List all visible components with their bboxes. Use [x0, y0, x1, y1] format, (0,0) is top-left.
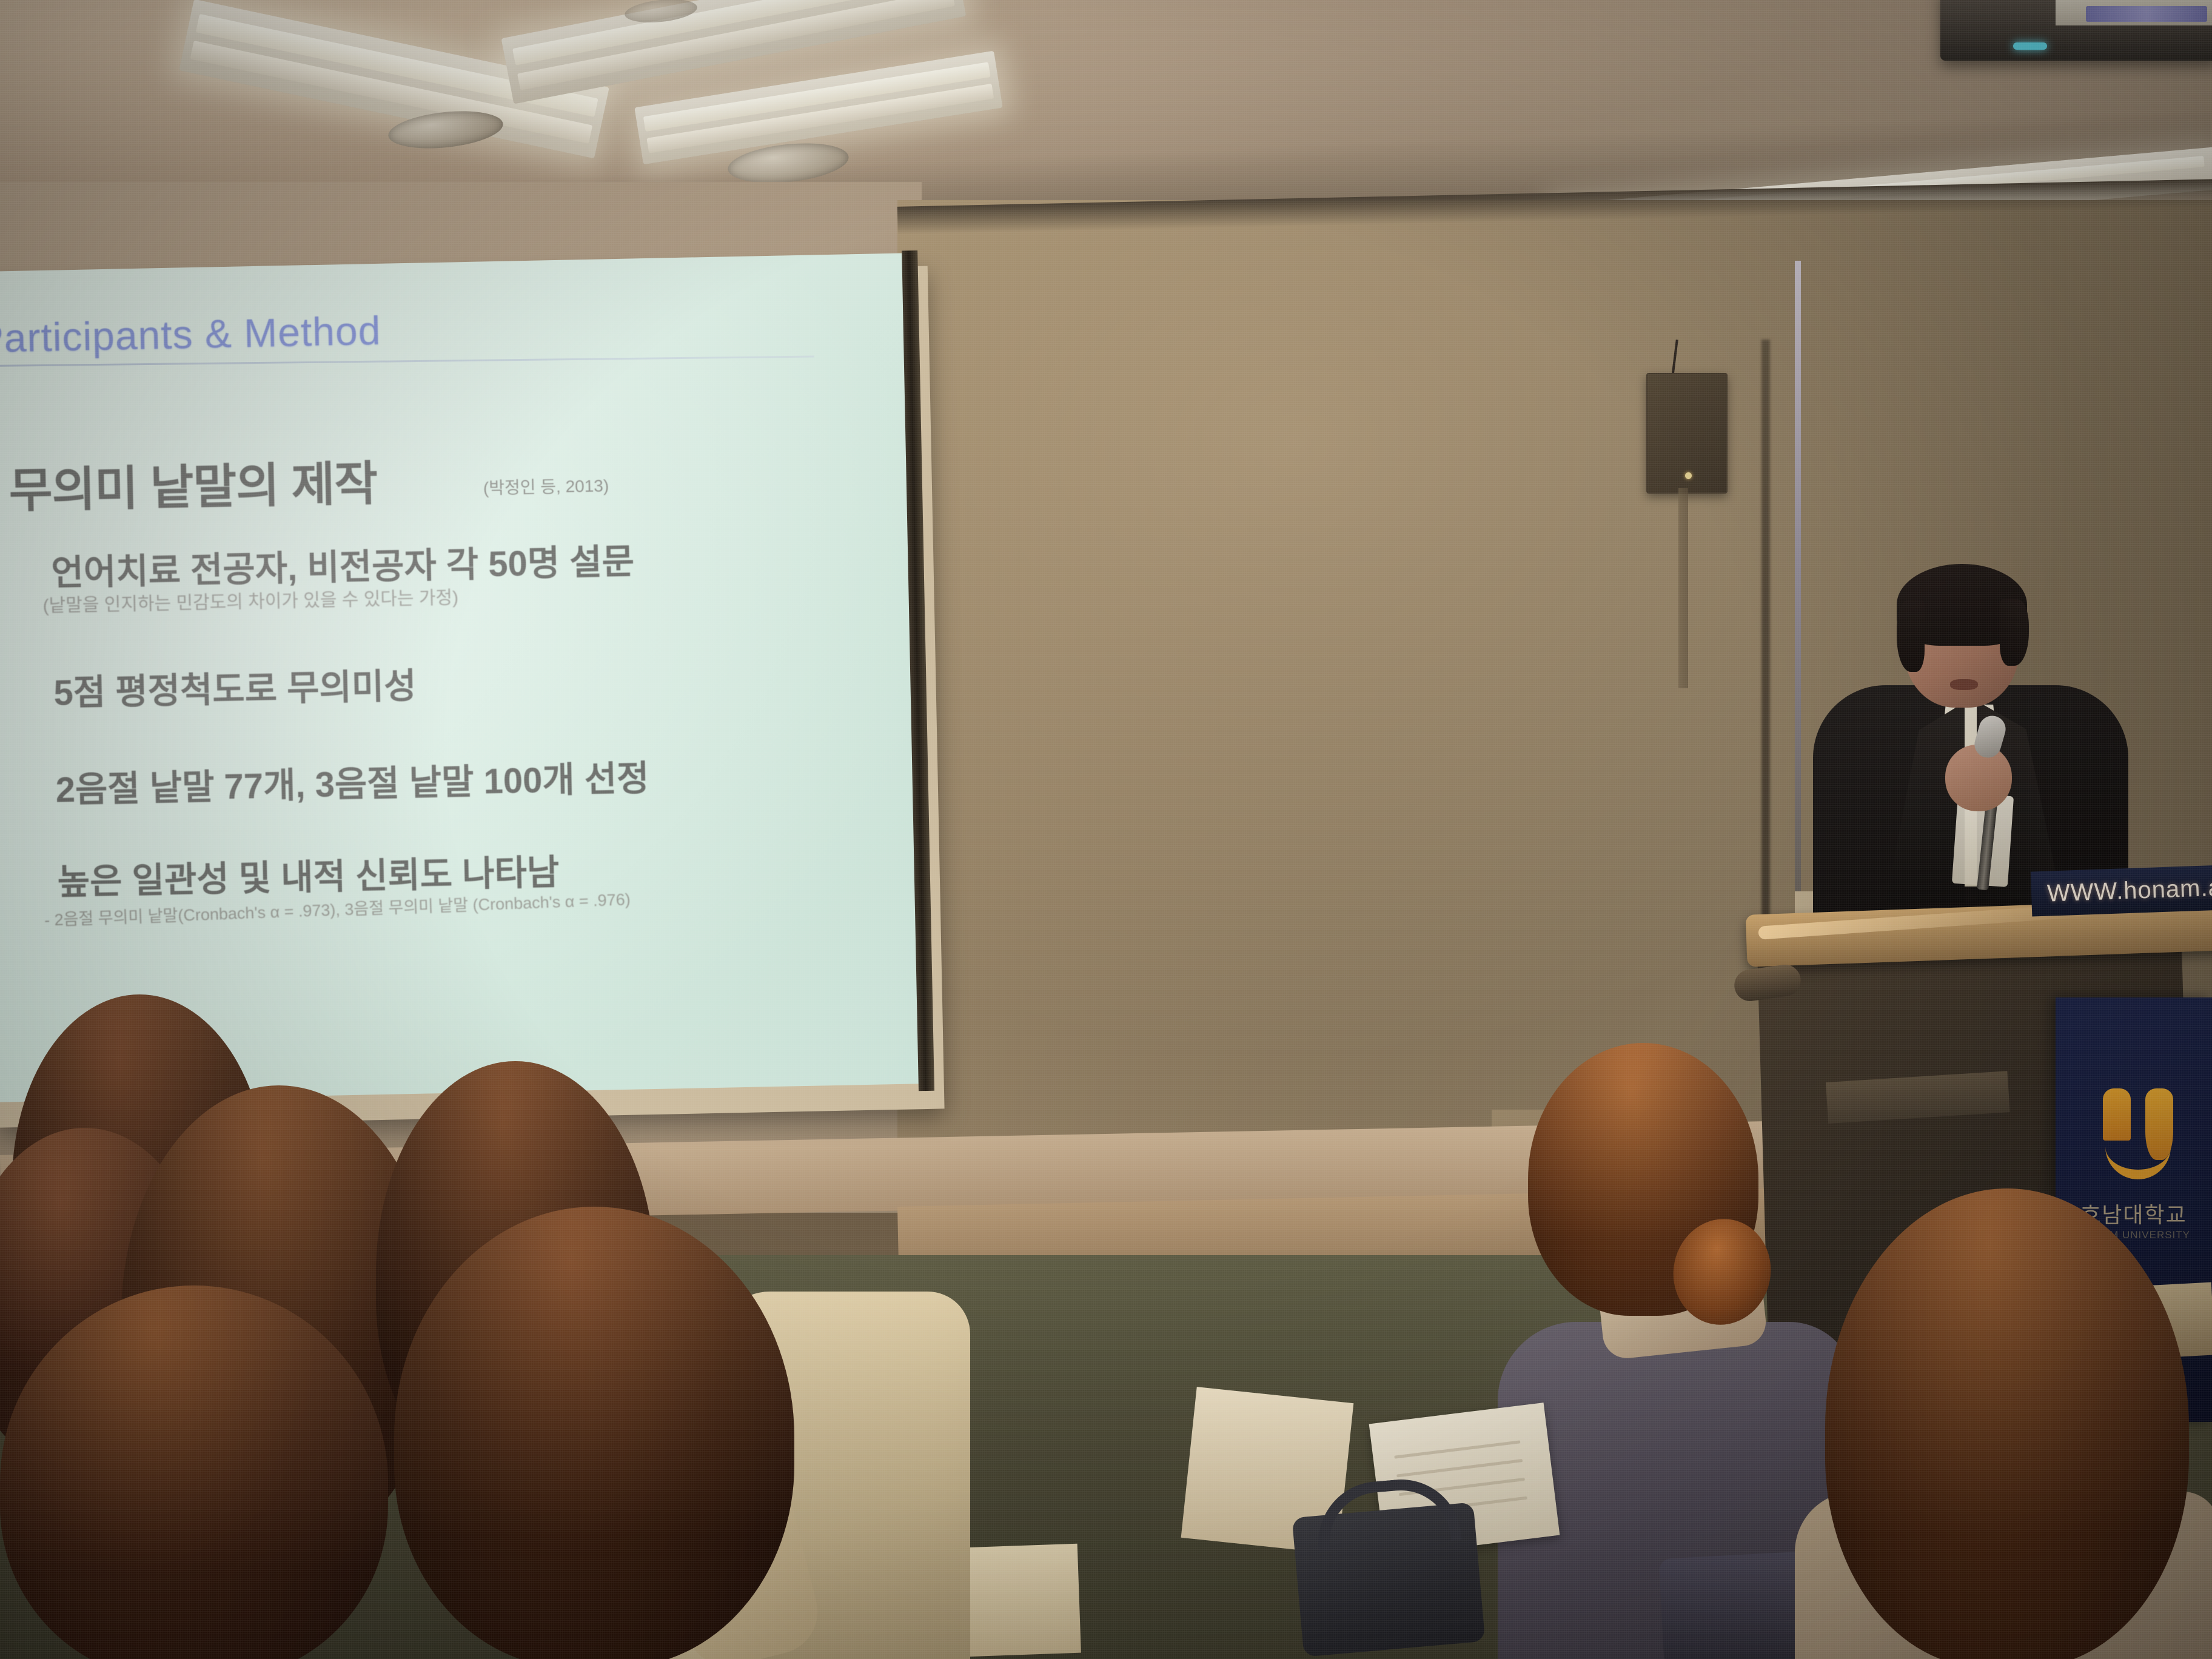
presentation-room-photo: Participants & Method 무의미 낱말의 제작 (박정인 등,… [0, 0, 2212, 1659]
ceiling-projector [1940, 0, 2212, 61]
wall-speaker-box [1646, 373, 1728, 494]
podium-url-text: WWW.honam.a [2031, 874, 2212, 908]
audience-head [0, 1285, 388, 1659]
slide-heading: 무의미 낱말의 제작 [8, 446, 378, 521]
speaker-mount-post [1678, 488, 1688, 688]
slide-citation: (박정인 등, 2013) [483, 472, 609, 499]
podium-front-panel [1826, 1071, 2010, 1124]
slide-bullet-3: 2음절 낱말 77개, 3음절 낱말 100개 선정 [55, 749, 649, 813]
audience-head [394, 1207, 794, 1659]
wall-corner-shadow [1761, 340, 1770, 994]
presenter-hand [1945, 745, 2012, 811]
university-logo-icon [2103, 1088, 2173, 1167]
projection-screen: Participants & Method 무의미 낱말의 제작 (박정인 등,… [0, 253, 920, 1102]
slide-bullet-2: 5점 평정척도로 무의미성 [53, 657, 417, 716]
presenter-hair-side [1897, 600, 1925, 672]
slide-section-title: Participants & Method [0, 307, 381, 361]
presenter-mouth [1950, 679, 1978, 690]
podium-url-strip: WWW.honam.a [2031, 865, 2212, 916]
audience-head [1825, 1188, 2189, 1659]
handbag [1292, 1502, 1486, 1657]
presenter-hair-side [2000, 599, 2029, 666]
